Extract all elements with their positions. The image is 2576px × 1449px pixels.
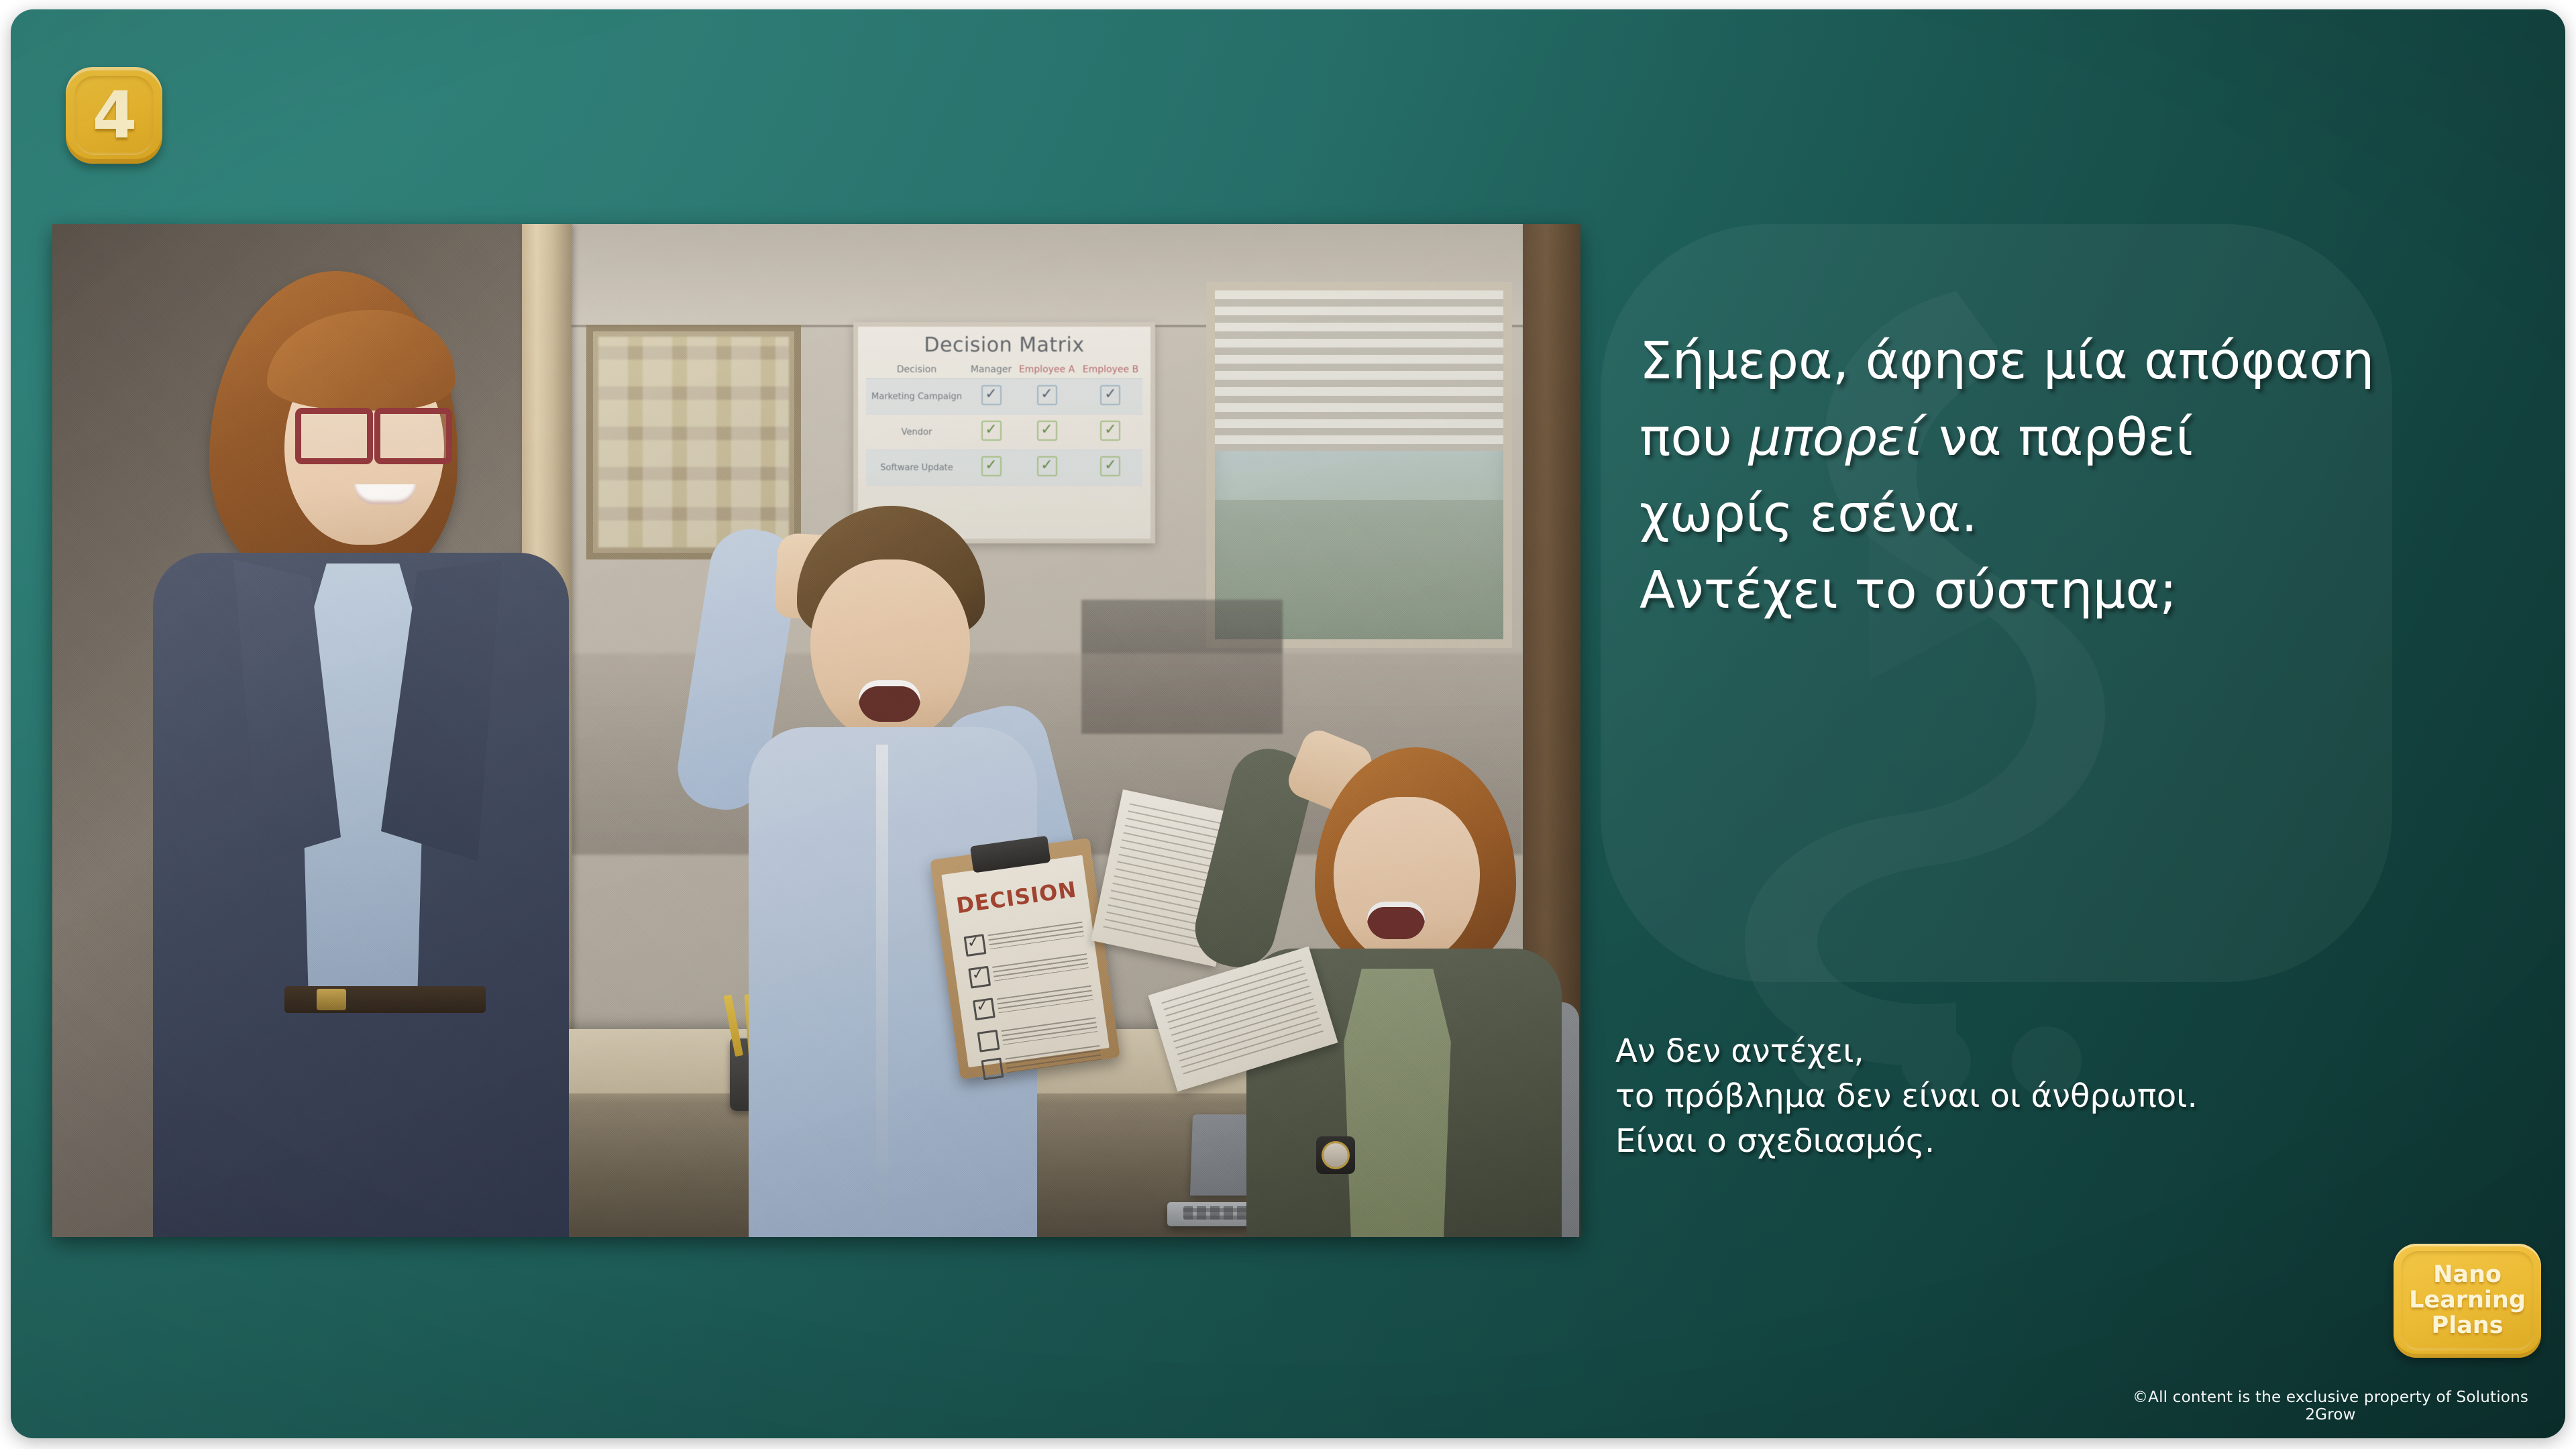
checkbox-checked-icon — [981, 385, 1002, 405]
employee-b-raised-arm — [1187, 741, 1319, 975]
matrix-row-label: Marketing Campaign — [866, 379, 967, 415]
clipboard-item — [973, 984, 1093, 1018]
matrix-row-label: Software Update — [866, 450, 967, 486]
clipboard-item-text — [992, 953, 1089, 981]
employee-b-open-mouth — [1367, 902, 1425, 939]
subtext-block: Αν δεν αντέχει, το πρόβλημα δεν είναι οι… — [1615, 1029, 2514, 1165]
subtext-line-1: Αν δεν αντέχει, — [1615, 1029, 2514, 1074]
matrix-row: Marketing Campaign — [866, 379, 1142, 415]
person-employee-b — [1166, 747, 1580, 1237]
checkbox-unchecked-icon — [977, 1030, 1000, 1053]
matrix-cell — [1079, 379, 1142, 415]
office-window — [1206, 282, 1512, 648]
matrix-cell — [1079, 415, 1142, 450]
brand-logo-text: Nano Learning Plans — [2409, 1263, 2526, 1338]
checkbox-unchecked-icon — [981, 1057, 1004, 1080]
clipboard-item-text — [997, 985, 1093, 1014]
clipboard-item — [968, 952, 1089, 986]
employee-a-shirt-placket — [876, 745, 888, 1214]
decision-matrix-table: Decision Manager Employee A Employee B M… — [866, 361, 1142, 486]
copyright-notice: ©All content is the exclusive property o… — [2109, 1389, 2552, 1424]
glasses-icon — [295, 408, 448, 458]
headline-line-4: Αντέχει το σύστημα; — [1640, 553, 2512, 629]
slide-number-badge: 4 — [66, 67, 162, 164]
checkbox-checked-icon — [981, 456, 1002, 476]
matrix-cell — [1015, 379, 1079, 415]
checkbox-checked-icon — [964, 934, 987, 957]
matrix-cell — [1015, 450, 1079, 486]
brand-logo-badge: Nano Learning Plans — [2394, 1244, 2541, 1358]
matrix-cell — [1015, 415, 1079, 450]
clipboard-item — [964, 920, 1085, 955]
matrix-row: Software Update — [866, 450, 1142, 486]
clipboard-paper: DECISION — [941, 855, 1109, 1068]
clipboard-item-text — [988, 922, 1085, 950]
matrix-col-manager: Manager — [967, 361, 1015, 379]
matrix-col-employee-a: Employee A — [1015, 361, 1079, 379]
matrix-col-employee-b: Employee B — [1079, 361, 1142, 379]
matrix-header-row: Decision Manager Employee A Employee B — [866, 361, 1142, 379]
manager-belt-buckle — [317, 989, 346, 1010]
checkbox-checked-icon — [968, 966, 991, 989]
headline-emphasis: μπορεί — [1749, 408, 1923, 468]
employee-a-open-mouth — [859, 680, 920, 722]
matrix-row: Vendor — [866, 415, 1142, 450]
screenshot-root: 4 Decision Matrix — [0, 0, 2576, 1449]
headline-line-3: χωρίς εσένα. — [1640, 476, 2512, 553]
checkbox-checked-icon — [1100, 421, 1120, 441]
wristwatch-icon — [1316, 1136, 1355, 1174]
clipboard-item-text — [1002, 1017, 1098, 1045]
illustration-scene: Decision Matrix Decision Manager Employe… — [52, 224, 1580, 1237]
slide-illustration: Decision Matrix Decision Manager Employe… — [52, 224, 1580, 1237]
headline-text: Σήμερα, άφησε μία απόφαση που μπορεί να … — [1640, 323, 2512, 629]
slide-number-text: 4 — [93, 83, 136, 148]
brand-line-2: Learning — [2409, 1288, 2526, 1313]
checkbox-checked-icon — [1037, 421, 1057, 441]
window-blinds — [1215, 290, 1503, 451]
clipboard-item — [977, 1016, 1098, 1050]
employee-b-tshirt — [1334, 969, 1461, 1237]
matrix-cell — [1079, 450, 1142, 486]
decision-clipboard: DECISION — [930, 838, 1120, 1079]
checkbox-checked-icon — [1100, 385, 1120, 405]
brand-line-1: Nano — [2409, 1263, 2526, 1288]
slide-canvas: 4 Decision Matrix — [11, 9, 2565, 1438]
manager-belt — [284, 986, 486, 1013]
decision-matrix-title: Decision Matrix — [866, 333, 1142, 357]
clipboard-title: DECISION — [945, 875, 1089, 920]
headline-line-2-pre: που — [1640, 408, 1749, 468]
matrix-cell — [967, 415, 1015, 450]
subtext-line-2: το πρόβλημα δεν είναι οι άνθρωποι. — [1615, 1074, 2514, 1119]
checkbox-checked-icon — [973, 998, 996, 1020]
subtext-line-3: Είναι ο σχεδιασμός. — [1615, 1119, 2514, 1164]
matrix-row-label: Vendor — [866, 415, 967, 450]
checkbox-checked-icon — [981, 421, 1002, 441]
headline-line-2: που μπορεί να παρθεί — [1640, 400, 2512, 476]
person-manager — [153, 271, 569, 1237]
matrix-col-decision: Decision — [866, 361, 967, 379]
headline-line-1: Σήμερα, άφησε μία απόφαση — [1640, 323, 2512, 400]
checkbox-checked-icon — [1100, 456, 1120, 476]
matrix-cell — [967, 379, 1015, 415]
headline-line-2-post: να παρθεί — [1923, 408, 2194, 468]
checkbox-checked-icon — [1037, 456, 1057, 476]
matrix-cell — [967, 450, 1015, 486]
brand-line-3: Plans — [2409, 1313, 2526, 1339]
checkbox-checked-icon — [1037, 385, 1057, 405]
